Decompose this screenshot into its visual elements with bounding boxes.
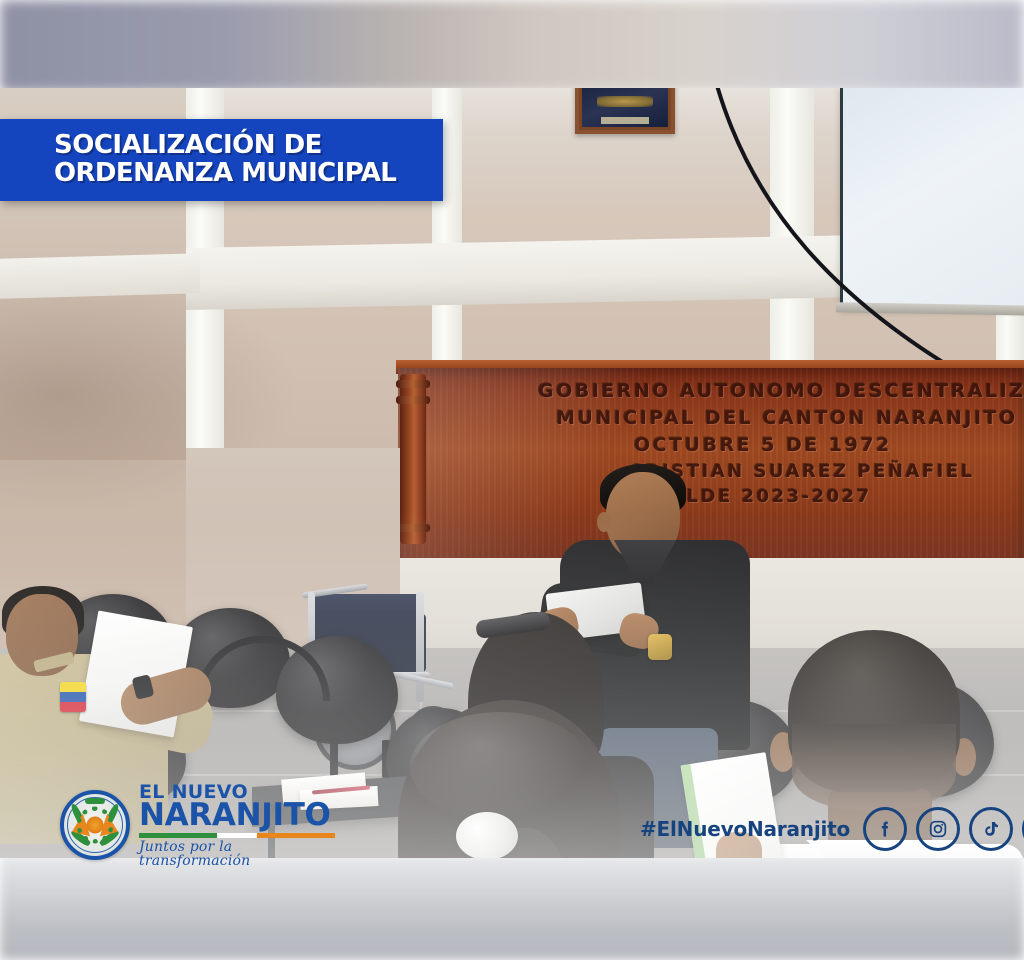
podium-line-3: OCTUBRE 5 DE 1972 [538,432,1016,459]
wristwatch [648,634,672,660]
tiktok-icon[interactable] [969,807,1013,851]
podium-line-1: GOBIERNO AUTONOMO DESCENTRALIZADO [538,378,1016,405]
backdrop-blur-bottom [0,854,1024,960]
social-media-poster: GOBIERNO AUTONOMO DESCENTRALIZADO MUNICI… [0,0,1024,960]
framed-picture-canvas [582,88,668,127]
hashtag-label: #ElNuevoNaranjito [640,817,850,841]
facebook-icon[interactable] [863,807,907,851]
title-banner: SOCIALIZACIÓN DE ORDENANZA MUNICIPAL [0,119,443,201]
instagram-icon[interactable] [916,807,960,851]
title-line-1: SOCIALIZACIÓN DE [54,132,443,160]
backdrop-blur-top [0,0,1024,92]
framed-picture-plaque [601,117,649,124]
social-bar: #ElNuevoNaranjito [640,806,1024,852]
naranjito-municipal-emblem-icon [60,790,130,860]
framed-picture [575,88,675,134]
podium-line-2: MUNICIPAL DEL CANTON NARANJITO [538,405,1016,432]
title-line-2: ORDENANZA MUNICIPAL [54,160,443,188]
hair-scrunchie [456,812,518,858]
brand-logo: EL NUEVO NARANJITO Juntos por la transfo… [60,792,330,858]
ecuador-flag-patch [60,682,86,712]
framed-picture-emblem [597,96,652,107]
logo-color-bar [139,833,335,838]
event-photograph: GOBIERNO AUTONOMO DESCENTRALIZADO MUNICI… [0,88,1024,858]
logo-line-2: NARANJITO [139,800,335,831]
podium-baluster [400,374,426,544]
logo-wordmark: EL NUEVO NARANJITO Juntos por la transfo… [139,783,335,868]
wall-beam [0,253,200,299]
logo-tagline: Juntos por la transformación [139,840,335,868]
title-banner-text: SOCIALIZACIÓN DE ORDENANZA MUNICIPAL [0,119,443,201]
